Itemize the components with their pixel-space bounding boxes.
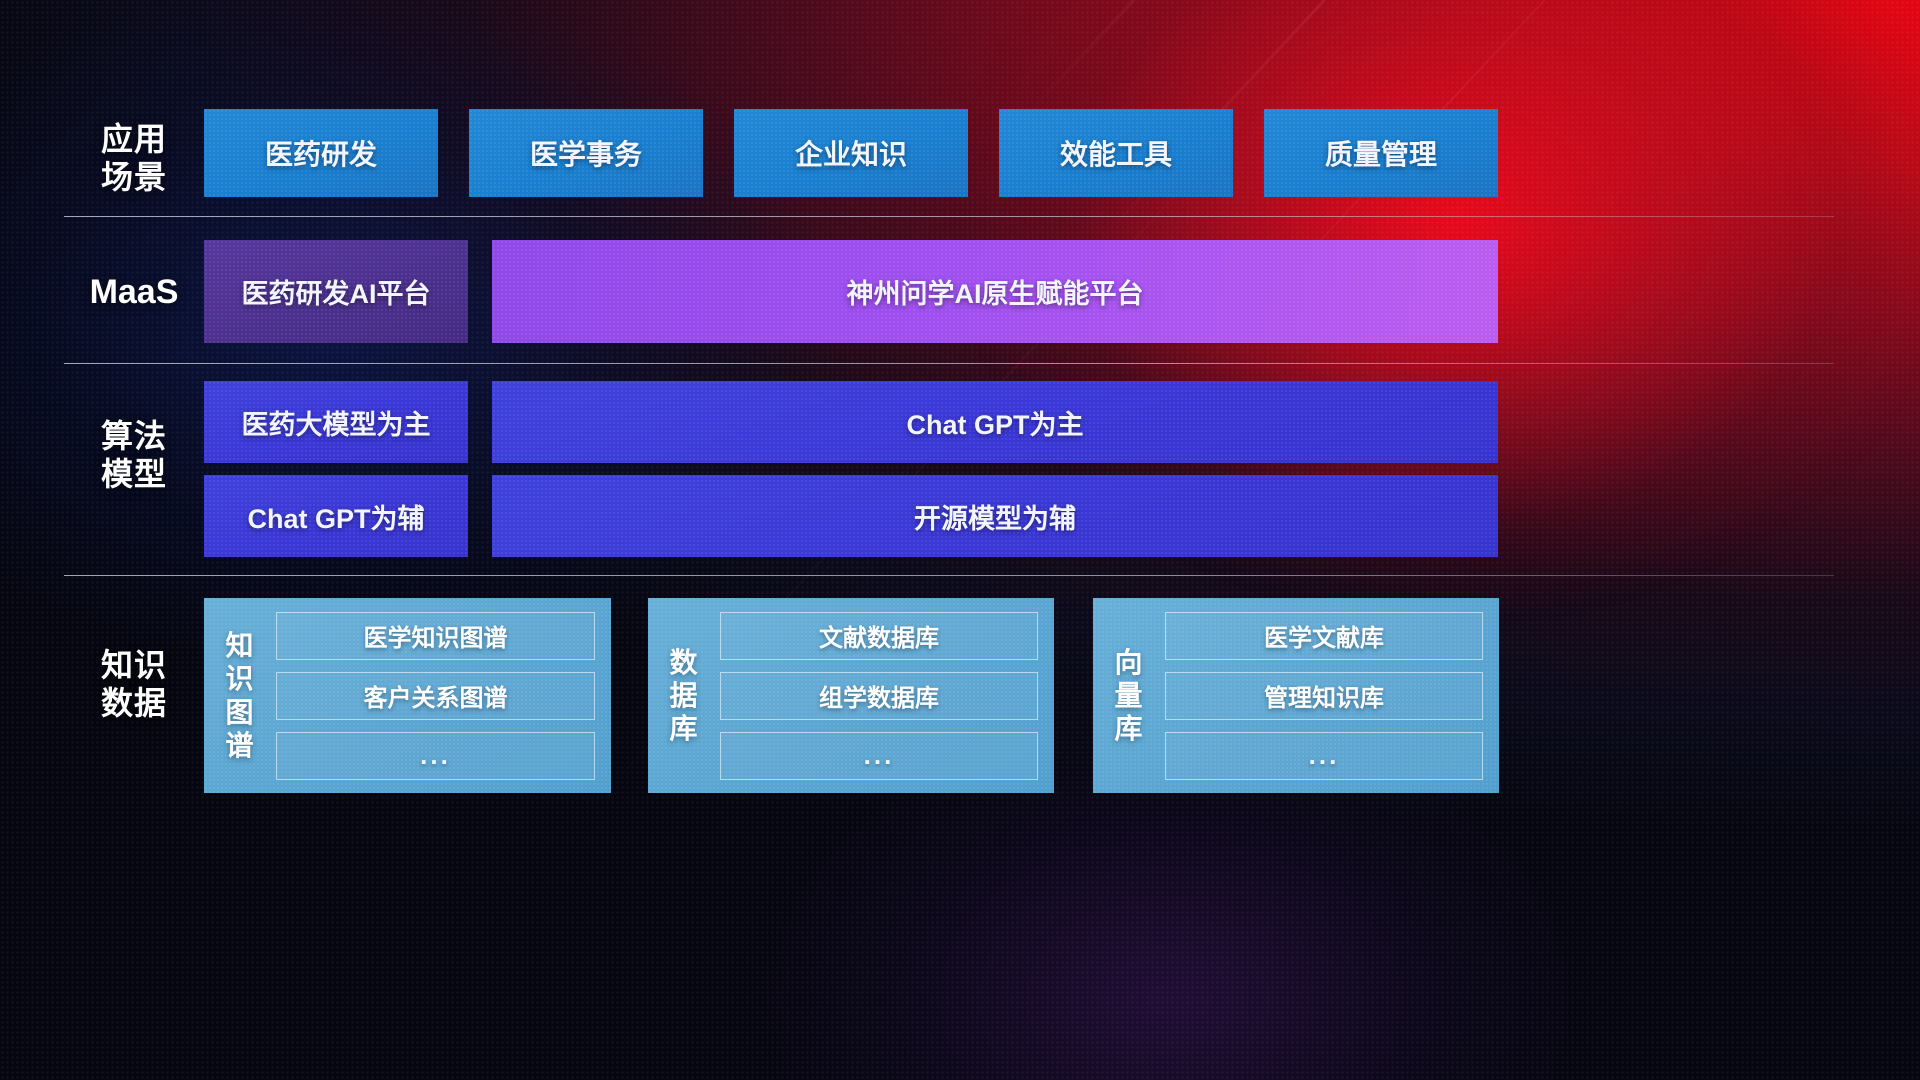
row-label-line-1: 算法 — [64, 418, 204, 456]
algo-box-drug-large-model-primary[interactable]: 医药大模型为主 — [204, 381, 468, 463]
knowledge-item[interactable]: 医学知识图谱 — [276, 612, 595, 660]
knowledge-item[interactable]: 管理知识库 — [1165, 672, 1483, 720]
divider-3 — [64, 575, 1834, 576]
knowledge-item-more[interactable]: ... — [1165, 732, 1483, 780]
row-label-line-2: 场景 — [64, 159, 204, 197]
knowledge-panel-vector-store: 向 量 库 医学文献库 管理知识库 ... — [1093, 598, 1499, 793]
app-box-quality-management[interactable]: 质量管理 — [1264, 109, 1498, 197]
row-label-line-2: 数据 — [64, 685, 204, 723]
maas-box-shenzhou-wenxue-platform[interactable]: 神州问学AI原生赋能平台 — [492, 240, 1498, 343]
divider-1 — [64, 216, 1834, 217]
row-label-maas: MaaS — [64, 272, 204, 312]
knowledge-panel-items: 文献数据库 组学数据库 ... — [720, 600, 1054, 792]
app-box-drug-rnd[interactable]: 医药研发 — [204, 109, 438, 197]
knowledge-panel-label: 向 量 库 — [1093, 646, 1165, 745]
maas-box-drug-rnd-platform[interactable]: 医药研发AI平台 — [204, 240, 468, 343]
knowledge-panel-knowledge-graph: 知 识 图 谱 医学知识图谱 客户关系图谱 ... — [204, 598, 611, 793]
row-label-knowledge-data: 知识 数据 — [64, 647, 204, 723]
app-box-efficiency-tools[interactable]: 效能工具 — [999, 109, 1233, 197]
knowledge-item-more[interactable]: ... — [276, 732, 595, 780]
knowledge-item[interactable]: 组学数据库 — [720, 672, 1038, 720]
knowledge-panel-items: 医学知识图谱 客户关系图谱 ... — [276, 600, 611, 792]
knowledge-panel-database: 数 据 库 文献数据库 组学数据库 ... — [648, 598, 1054, 793]
app-box-medical-affairs[interactable]: 医学事务 — [469, 109, 703, 197]
slide-canvas: 应用 场景 医药研发 医学事务 企业知识 效能工具 质量管理 MaaS 医药研发… — [0, 0, 1920, 1080]
knowledge-panel-label: 数 据 库 — [648, 646, 720, 745]
row-label-line-1: 应用 — [64, 121, 204, 159]
algo-box-chatgpt-primary[interactable]: Chat GPT为主 — [492, 381, 1498, 463]
knowledge-item-more[interactable]: ... — [720, 732, 1038, 780]
algo-box-opensource-secondary[interactable]: 开源模型为辅 — [492, 475, 1498, 557]
knowledge-item[interactable]: 客户关系图谱 — [276, 672, 595, 720]
algo-box-chatgpt-secondary[interactable]: Chat GPT为辅 — [204, 475, 468, 557]
row-label-line-1: 知识 — [64, 647, 204, 685]
app-box-enterprise-knowledge[interactable]: 企业知识 — [734, 109, 968, 197]
knowledge-item[interactable]: 医学文献库 — [1165, 612, 1483, 660]
row-label-algorithm-models: 算法 模型 — [64, 418, 204, 494]
knowledge-panel-label: 知 识 图 谱 — [204, 629, 276, 761]
architecture-diagram: 应用 场景 医药研发 医学事务 企业知识 效能工具 质量管理 MaaS 医药研发… — [0, 0, 1920, 1080]
knowledge-item[interactable]: 文献数据库 — [720, 612, 1038, 660]
knowledge-panel-items: 医学文献库 管理知识库 ... — [1165, 600, 1499, 792]
divider-2 — [64, 363, 1834, 364]
row-label-application-scenarios: 应用 场景 — [64, 121, 204, 197]
row-label-line-2: 模型 — [64, 456, 204, 494]
